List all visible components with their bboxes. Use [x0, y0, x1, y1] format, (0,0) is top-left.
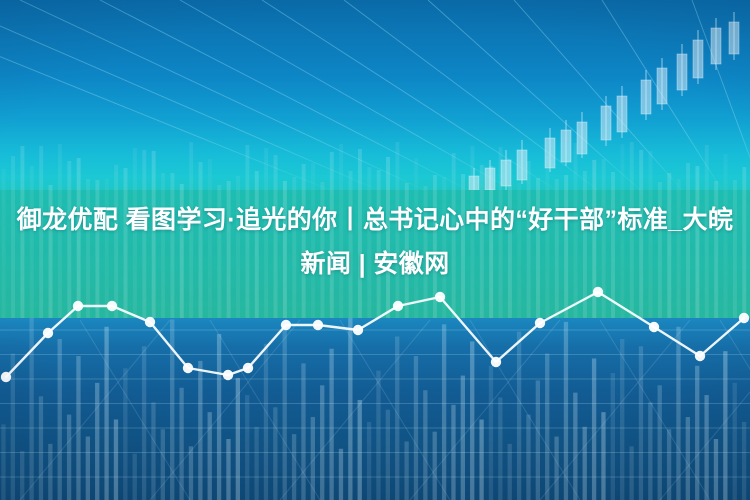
- caption-line-1: 御龙优配 看图学习·追光的你丨总书记心中的“好干部”标准_大皖: [17, 206, 734, 234]
- banner-image: 御龙优配 看图学习·追光的你丨总书记心中的“好干部”标准_大皖 新闻 | 安徽网: [0, 0, 750, 500]
- caption-line-2: 新闻 | 安徽网: [0, 242, 750, 286]
- banner-caption: 御龙优配 看图学习·追光的你丨总书记心中的“好干部”标准_大皖 新闻 | 安徽网: [0, 198, 750, 286]
